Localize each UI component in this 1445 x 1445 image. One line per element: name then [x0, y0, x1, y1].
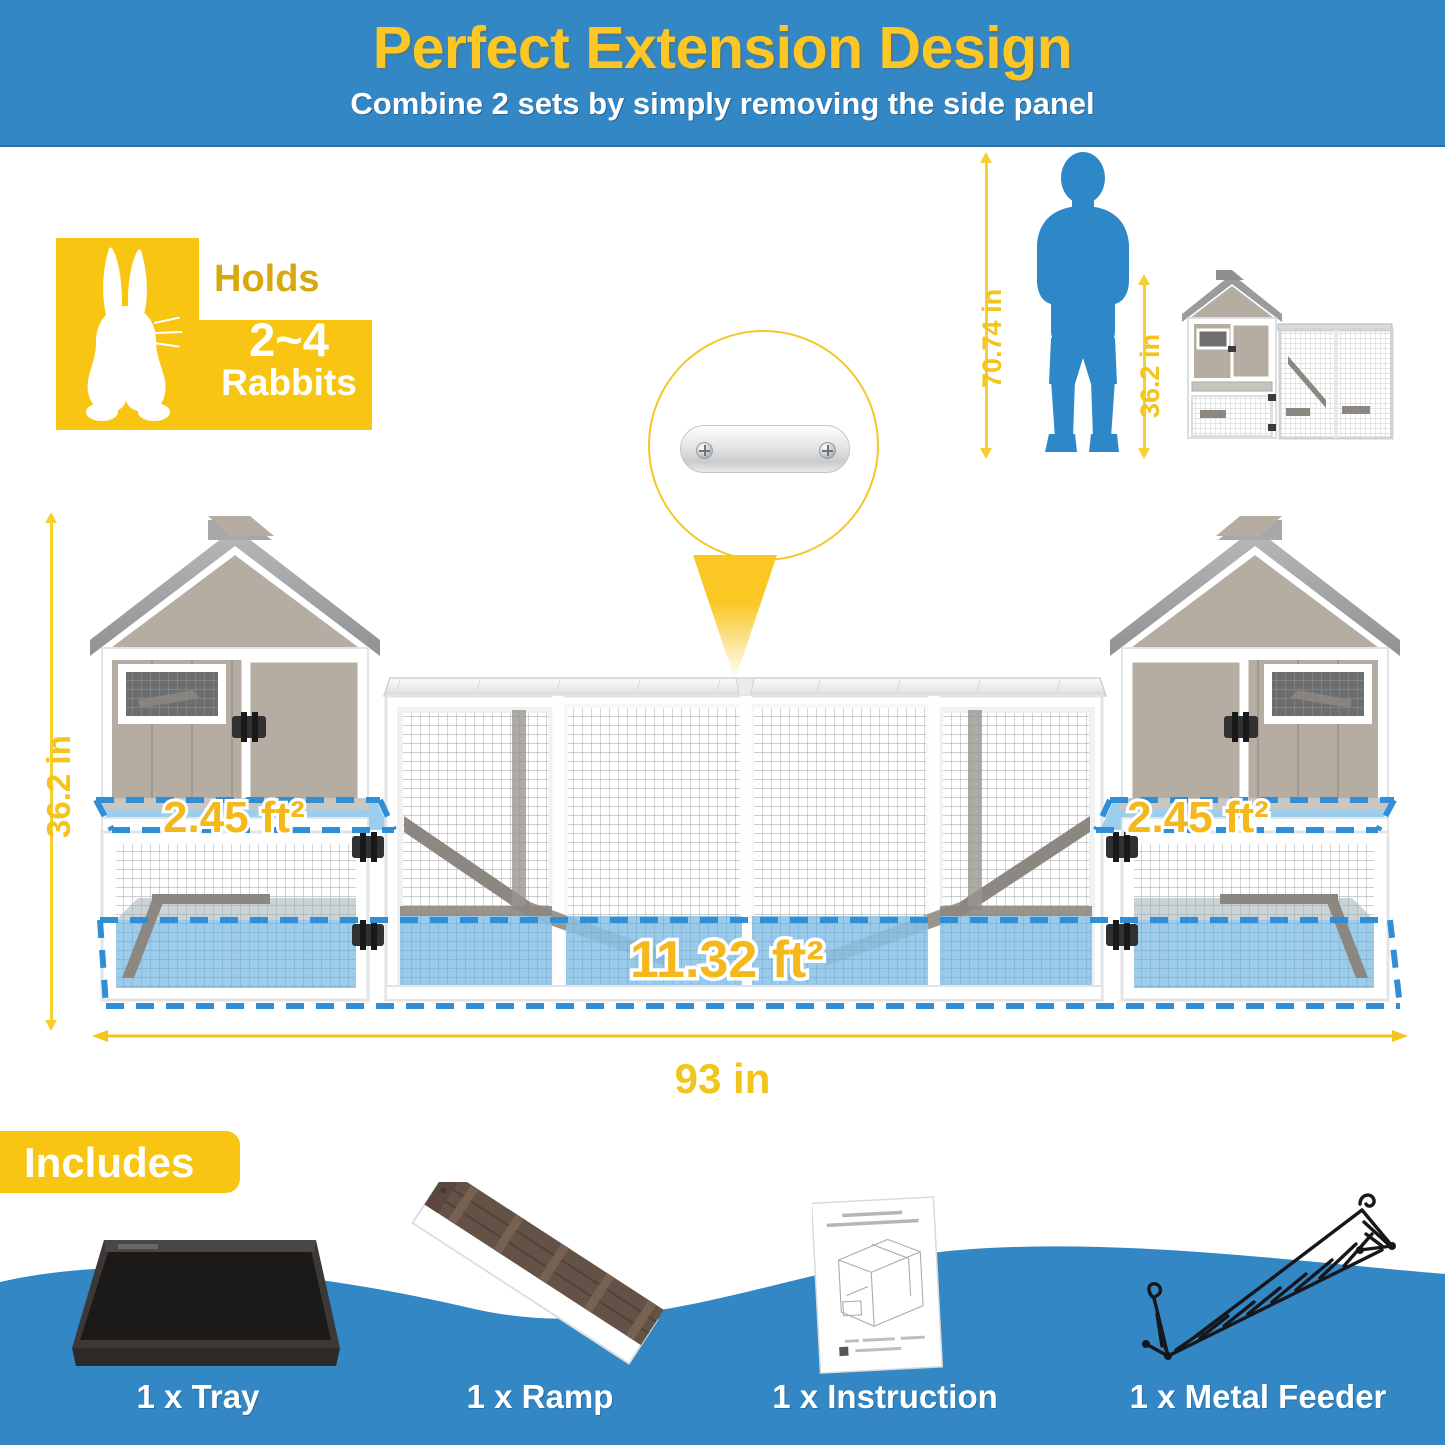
left-hutch-house: [90, 516, 390, 1000]
hinge-icon: [352, 832, 384, 862]
human-silhouette-icon: [1013, 152, 1153, 464]
capacity-badge: Holds 2~4 Rabbits: [56, 238, 346, 430]
product-height-label: 36.2 in: [1135, 334, 1166, 418]
includes-badge: Includes: [0, 1131, 240, 1193]
overall-width-label: 93 in: [0, 1055, 1445, 1103]
left-area-label: 2.45 ft²: [163, 793, 305, 843]
capacity-animal: Rabbits: [206, 364, 372, 401]
page-title: Perfect Extension Design: [0, 14, 1445, 82]
hinge-icon: [352, 920, 384, 950]
run-area-label: 11.32 ft²: [630, 930, 824, 990]
item-label-tray: 1 x Tray: [18, 1378, 378, 1416]
page-subtitle: Combine 2 sets by simply removing the si…: [0, 86, 1445, 122]
arrow-cap-bottom-person: [980, 448, 992, 459]
right-hutch-house: [1100, 516, 1400, 1000]
screw-icon-right: [819, 442, 836, 459]
item-label-ramp: 1 x Ramp: [360, 1378, 720, 1416]
item-label-feeder: 1 x Metal Feeder: [1078, 1378, 1438, 1416]
person-height-label: 70.74 in: [977, 289, 1008, 388]
arrow-cap-bottom-overall: [45, 1020, 57, 1031]
hinge-icon: [1106, 920, 1138, 950]
capacity-holds-label: Holds: [214, 258, 320, 301]
header-banner: Perfect Extension Design Combine 2 sets …: [0, 0, 1445, 147]
includes-title: Includes: [24, 1139, 194, 1187]
wooden-ramp-icon: [395, 1182, 665, 1377]
hinge-icon: [232, 712, 266, 742]
arrow-cap-bottom-product: [1138, 448, 1150, 459]
capacity-count: 2~4: [206, 316, 372, 363]
right-area-label: 2.45 ft²: [1127, 793, 1269, 843]
item-label-instruction: 1 x Instruction: [705, 1378, 1065, 1416]
metal-connector-plate-icon: [680, 425, 850, 473]
instruction-sheet-icon: [812, 1196, 944, 1376]
overall-width-arrow: [90, 1024, 1410, 1048]
rabbit-hutch-icon: [1170, 268, 1395, 458]
screw-icon-left: [696, 442, 713, 459]
rabbit-icon: [68, 244, 188, 424]
plastic-tray-icon: [48, 1228, 348, 1383]
metal-hay-feeder-icon: [1110, 1188, 1410, 1378]
hinge-icon: [1224, 712, 1258, 742]
scale-comparison: 70.74 in 36.2 in: [955, 150, 1405, 480]
